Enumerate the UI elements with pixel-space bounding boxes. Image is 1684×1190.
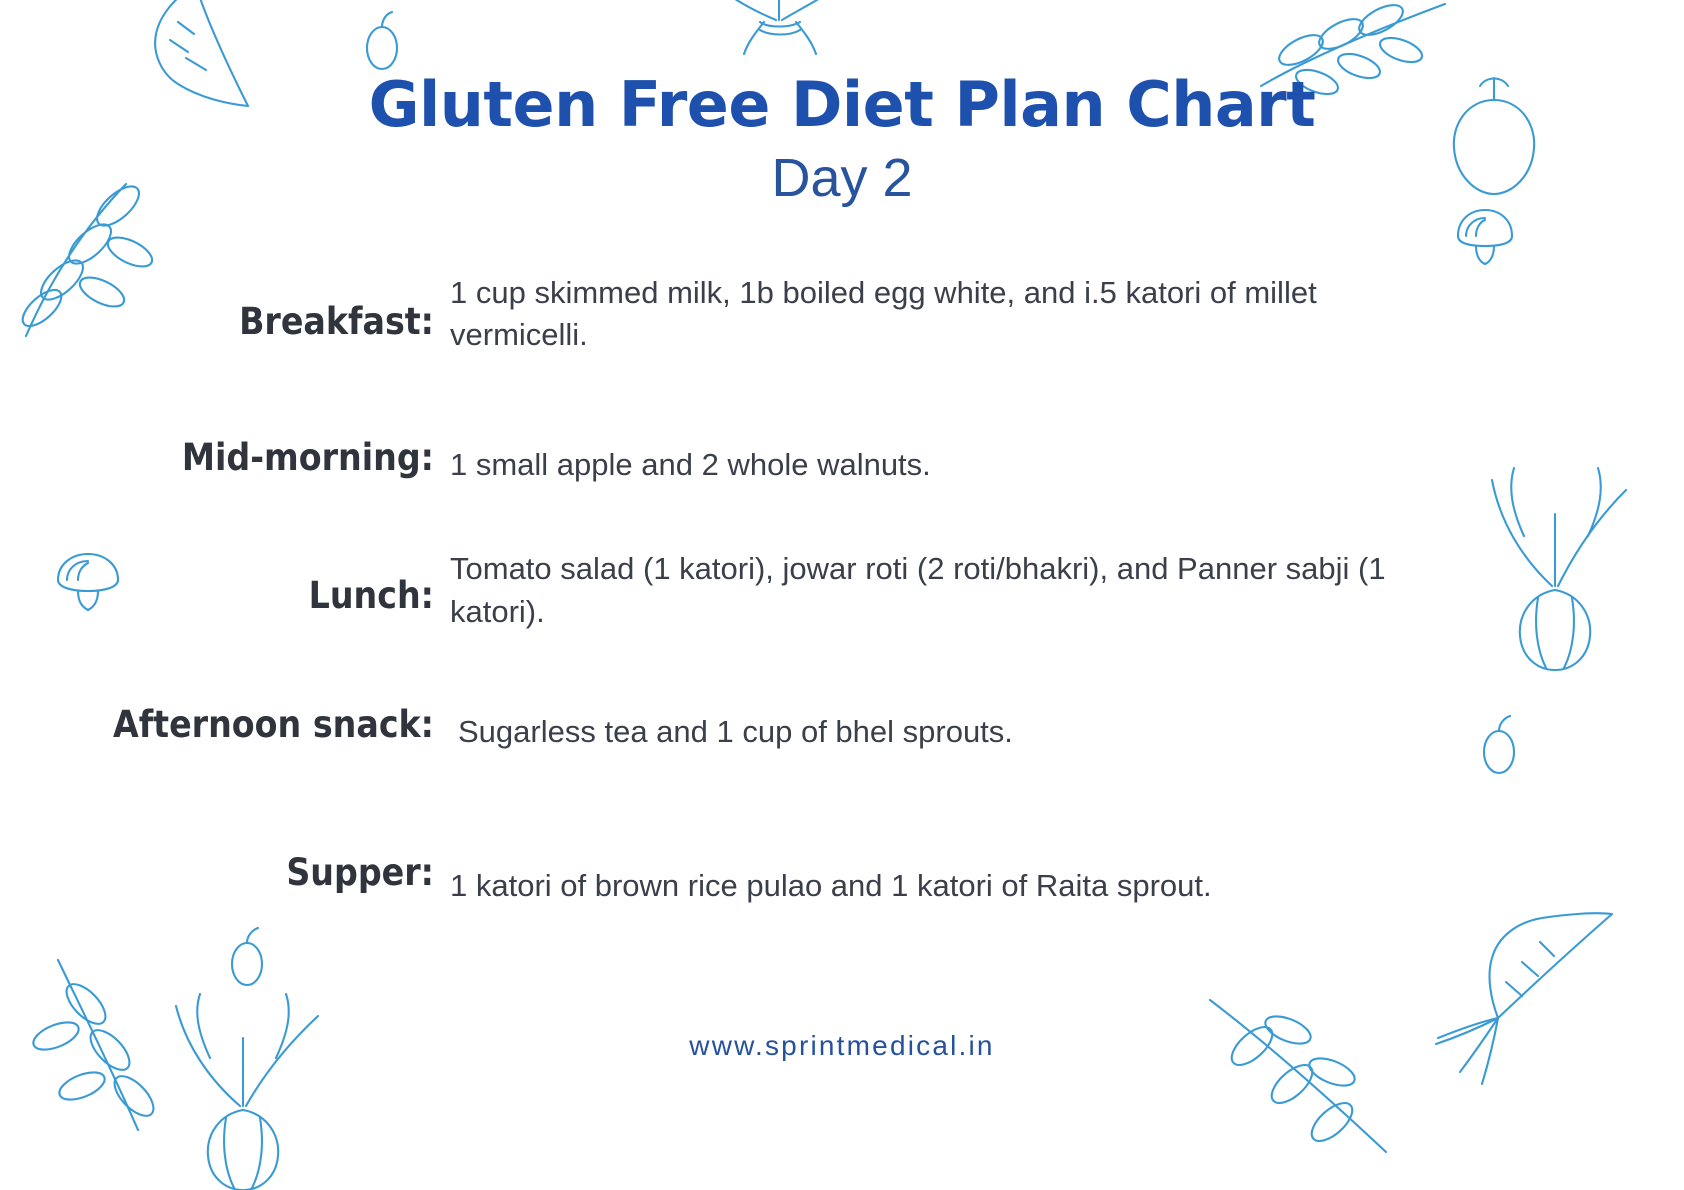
- meal-label-afternoon-snack: Afternoon snack:: [0, 703, 450, 746]
- meal-row-mid-morning: Mid-morning: 1 small apple and 2 whole w…: [0, 436, 1684, 486]
- olive-doodle: [360, 12, 404, 76]
- meal-label-breakfast: Breakfast:: [0, 268, 450, 343]
- mushroom-doodle: [1452, 206, 1518, 266]
- meal-label-mid-morning: Mid-morning:: [0, 436, 450, 479]
- wheat-bundle-doodle: [690, 0, 870, 56]
- meal-description-breakfast: 1 cup skimmed milk, 1b boiled egg white,…: [450, 268, 1684, 356]
- meal-description-lunch: Tomato salad (1 katori), jowar roti (2 r…: [450, 548, 1684, 632]
- leaf-branch-doodle: [1200, 990, 1410, 1190]
- page-subtitle: Day 2: [0, 147, 1684, 209]
- carrot-doodle: [1400, 906, 1630, 1106]
- meal-label-supper: Supper:: [0, 851, 450, 894]
- meal-description-mid-morning: 1 small apple and 2 whole walnuts.: [450, 436, 1684, 486]
- meal-list: Breakfast: 1 cup skimmed milk, 1b boiled…: [0, 268, 1684, 907]
- olive-doodle: [224, 926, 270, 992]
- website-url[interactable]: www.sprintmedical.in: [689, 1030, 994, 1061]
- meal-row-afternoon-snack: Afternoon snack: Sugarless tea and 1 cup…: [0, 703, 1684, 753]
- meal-description-supper: 1 katori of brown rice pulao and 1 kator…: [450, 851, 1684, 907]
- meal-row-lunch: Lunch: Tomato salad (1 katori), jowar ro…: [0, 548, 1684, 632]
- meal-description-afternoon-snack: Sugarless tea and 1 cup of bhel sprouts.: [450, 703, 1684, 753]
- meal-row-breakfast: Breakfast: 1 cup skimmed milk, 1b boiled…: [0, 268, 1684, 356]
- meal-row-supper: Supper: 1 katori of brown rice pulao and…: [0, 851, 1684, 907]
- diet-plan-poster: Gluten Free Diet Plan Chart Day 2 Breakf…: [0, 0, 1684, 1190]
- poster-header: Gluten Free Diet Plan Chart Day 2: [0, 72, 1684, 209]
- poster-footer: www.sprintmedical.in: [0, 1030, 1684, 1062]
- page-title: Gluten Free Diet Plan Chart: [0, 72, 1684, 137]
- meal-label-lunch: Lunch:: [0, 548, 450, 617]
